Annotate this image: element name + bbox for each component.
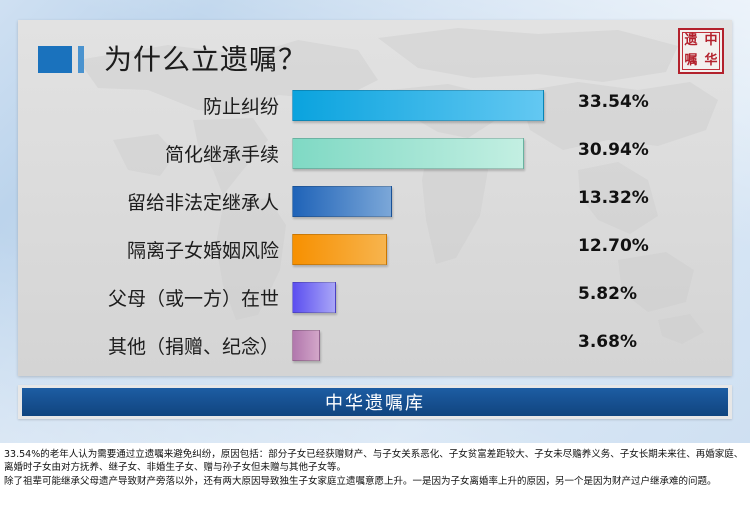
- bar-category-label: 简化继承手续: [165, 140, 279, 167]
- footer-banner: 中华遗嘱库: [22, 388, 728, 416]
- bar-category-label: 留给非法定继承人: [127, 188, 279, 215]
- bar-value-label: 5.82%: [578, 284, 637, 304]
- bar-父母在世: [292, 282, 336, 313]
- bar-value-label: 30.94%: [578, 140, 649, 160]
- bar-其他捐赠纪念: [292, 330, 320, 361]
- bar-隔离子女婚姻风险: [292, 234, 387, 265]
- logo-char-4: 华: [701, 51, 721, 71]
- chart-row: 父母（或一方）在世 5.82%: [18, 276, 732, 324]
- bar-简化继承手续: [292, 138, 524, 169]
- bar-category-label: 隔离子女婚姻风险: [127, 236, 279, 263]
- logo-char-2: 中: [701, 31, 721, 51]
- chart-row: 隔离子女婚姻风险 12.70%: [18, 228, 732, 276]
- bar-category-label: 其他（捐赠、纪念）: [108, 332, 279, 359]
- logo-char-1: 遗: [681, 31, 701, 51]
- horizontal-bar-chart: 防止纠纷 33.54% 简化继承手续 30.94% 留给非法定继承人 13.32…: [18, 84, 732, 376]
- bar-value-label: 13.32%: [578, 188, 649, 208]
- bar-category-label: 防止纠纷: [203, 92, 279, 119]
- bar-value-label: 33.54%: [578, 92, 649, 112]
- caption-paragraph: 除了祖辈可能继承父母遗产导致财产旁落以外，还有两大原因导致独生子女家庭立遗嘱意愿…: [4, 475, 746, 488]
- page-title: 为什么立遗嘱？: [104, 38, 307, 78]
- title-accent-block: [38, 46, 72, 73]
- bar-value-label: 3.68%: [578, 332, 637, 352]
- zhonghua-yizhuku-logo: 遗 中 嘱 华: [678, 28, 724, 74]
- caption-paragraph: 33.54%的老年人认为需要通过立遗嘱来避免纠纷，原因包括：部分子女已经获赠财产…: [4, 448, 746, 474]
- bar-防止纠纷: [292, 90, 544, 121]
- chart-row: 防止纠纷 33.54%: [18, 84, 732, 132]
- bar-category-label: 父母（或一方）在世: [108, 284, 279, 311]
- slide-content-card: 为什么立遗嘱？ 遗 中 嘱 华 防止纠纷 33.54% 简化继承手续 30.94…: [18, 20, 732, 376]
- chart-row: 简化继承手续 30.94%: [18, 132, 732, 180]
- logo-char-3: 嘱: [681, 51, 701, 71]
- bar-留给非法定继承人: [292, 186, 392, 217]
- presentation-slide: 为什么立遗嘱？ 遗 中 嘱 华 防止纠纷 33.54% 简化继承手续 30.94…: [0, 0, 750, 443]
- caption-block: 33.54%的老年人认为需要通过立遗嘱来避免纠纷，原因包括：部分子女已经获赠财产…: [0, 443, 750, 506]
- footer-banner-frame: 中华遗嘱库: [18, 385, 732, 419]
- title-accent-bar: [78, 46, 84, 73]
- chart-row: 其他（捐赠、纪念） 3.68%: [18, 324, 732, 372]
- chart-row: 留给非法定继承人 13.32%: [18, 180, 732, 228]
- bar-value-label: 12.70%: [578, 236, 649, 256]
